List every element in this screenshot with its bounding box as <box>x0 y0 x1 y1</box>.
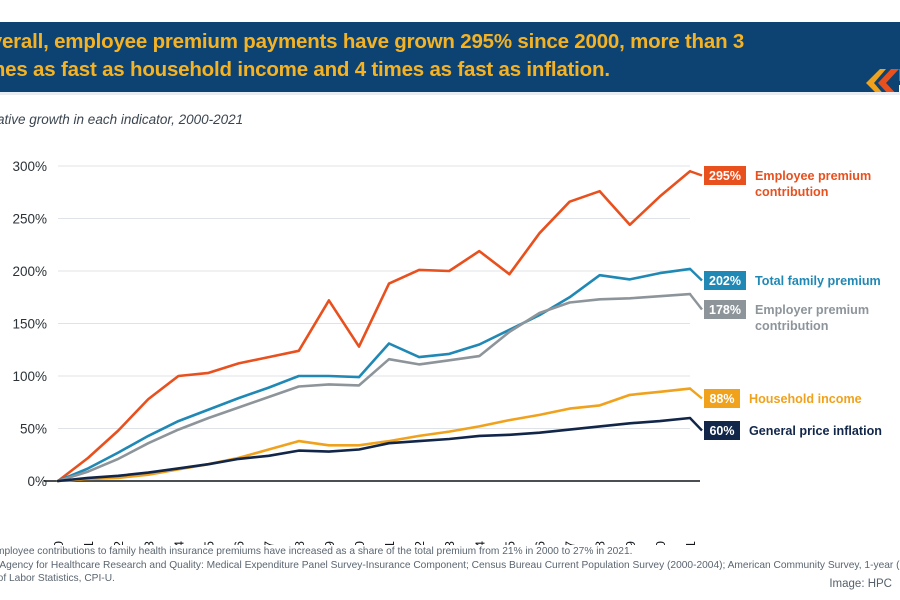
footnote-note: Note: Employee contributions to family h… <box>0 545 900 559</box>
series-line-4 <box>58 418 690 481</box>
leader-line-4 <box>690 418 702 431</box>
y-axis-tick-label: 50% <box>20 422 47 437</box>
header-banner: Overall, employee premium payments have … <box>0 22 900 92</box>
series-legend-label-1: Total family premium <box>755 274 881 288</box>
leader-line-0 <box>690 171 702 175</box>
series-legend-label-3: Household income <box>749 392 862 406</box>
hpc-chevron-logo-icon <box>866 68 900 92</box>
title-line-1: Overall, employee premium payments have … <box>0 30 744 53</box>
chart-area: 0%50%100%150%200%250%300%200020012002200… <box>0 145 900 545</box>
series-legend-label-0: Employee premium <box>755 169 871 183</box>
value-badge-label-4: 60% <box>709 424 734 438</box>
page-title: Overall, employee premium payments have … <box>0 28 835 84</box>
y-axis-tick-label: 200% <box>12 264 47 279</box>
leader-line-3 <box>690 389 702 399</box>
y-axis-tick-label: 100% <box>12 369 47 384</box>
y-axis-tick-label: 250% <box>12 212 47 227</box>
chart-subtitle: Cumulative growth in each indicator, 200… <box>0 112 243 127</box>
value-badge-label-0: 295% <box>709 169 741 183</box>
series-legend-label-2: Employer premium <box>755 303 869 317</box>
value-badge-label-3: 88% <box>709 392 734 406</box>
image-credit: Image: HPC <box>829 578 892 590</box>
series-legend-label-line2-0: contribution <box>755 185 828 199</box>
title-line-2: times as fast as household income and 4 … <box>0 56 835 84</box>
y-axis-tick-label: 150% <box>12 317 47 332</box>
footnote-block: Note: Employee contributions to family h… <box>0 545 900 586</box>
value-badge-label-2: 178% <box>709 303 741 317</box>
series-line-2 <box>58 294 690 481</box>
header-divider <box>0 92 900 95</box>
footnote-source: Source: Agency for Healthcare Research a… <box>0 559 900 573</box>
infographic-root: Overall, employee premium payments have … <box>0 0 900 600</box>
footnote-source-cont: Bureau of Labor Statistics, CPI-U. <box>0 572 900 586</box>
leader-line-2 <box>690 294 702 309</box>
value-badge-label-1: 202% <box>709 274 741 288</box>
series-legend-label-4: General price inflation <box>749 424 882 438</box>
leader-line-1 <box>690 269 702 281</box>
series-legend-label-line2-2: contribution <box>755 319 828 333</box>
growth-line-chart: 0%50%100%150%200%250%300%200020012002200… <box>0 145 900 545</box>
y-axis-tick-label: 300% <box>12 159 47 174</box>
